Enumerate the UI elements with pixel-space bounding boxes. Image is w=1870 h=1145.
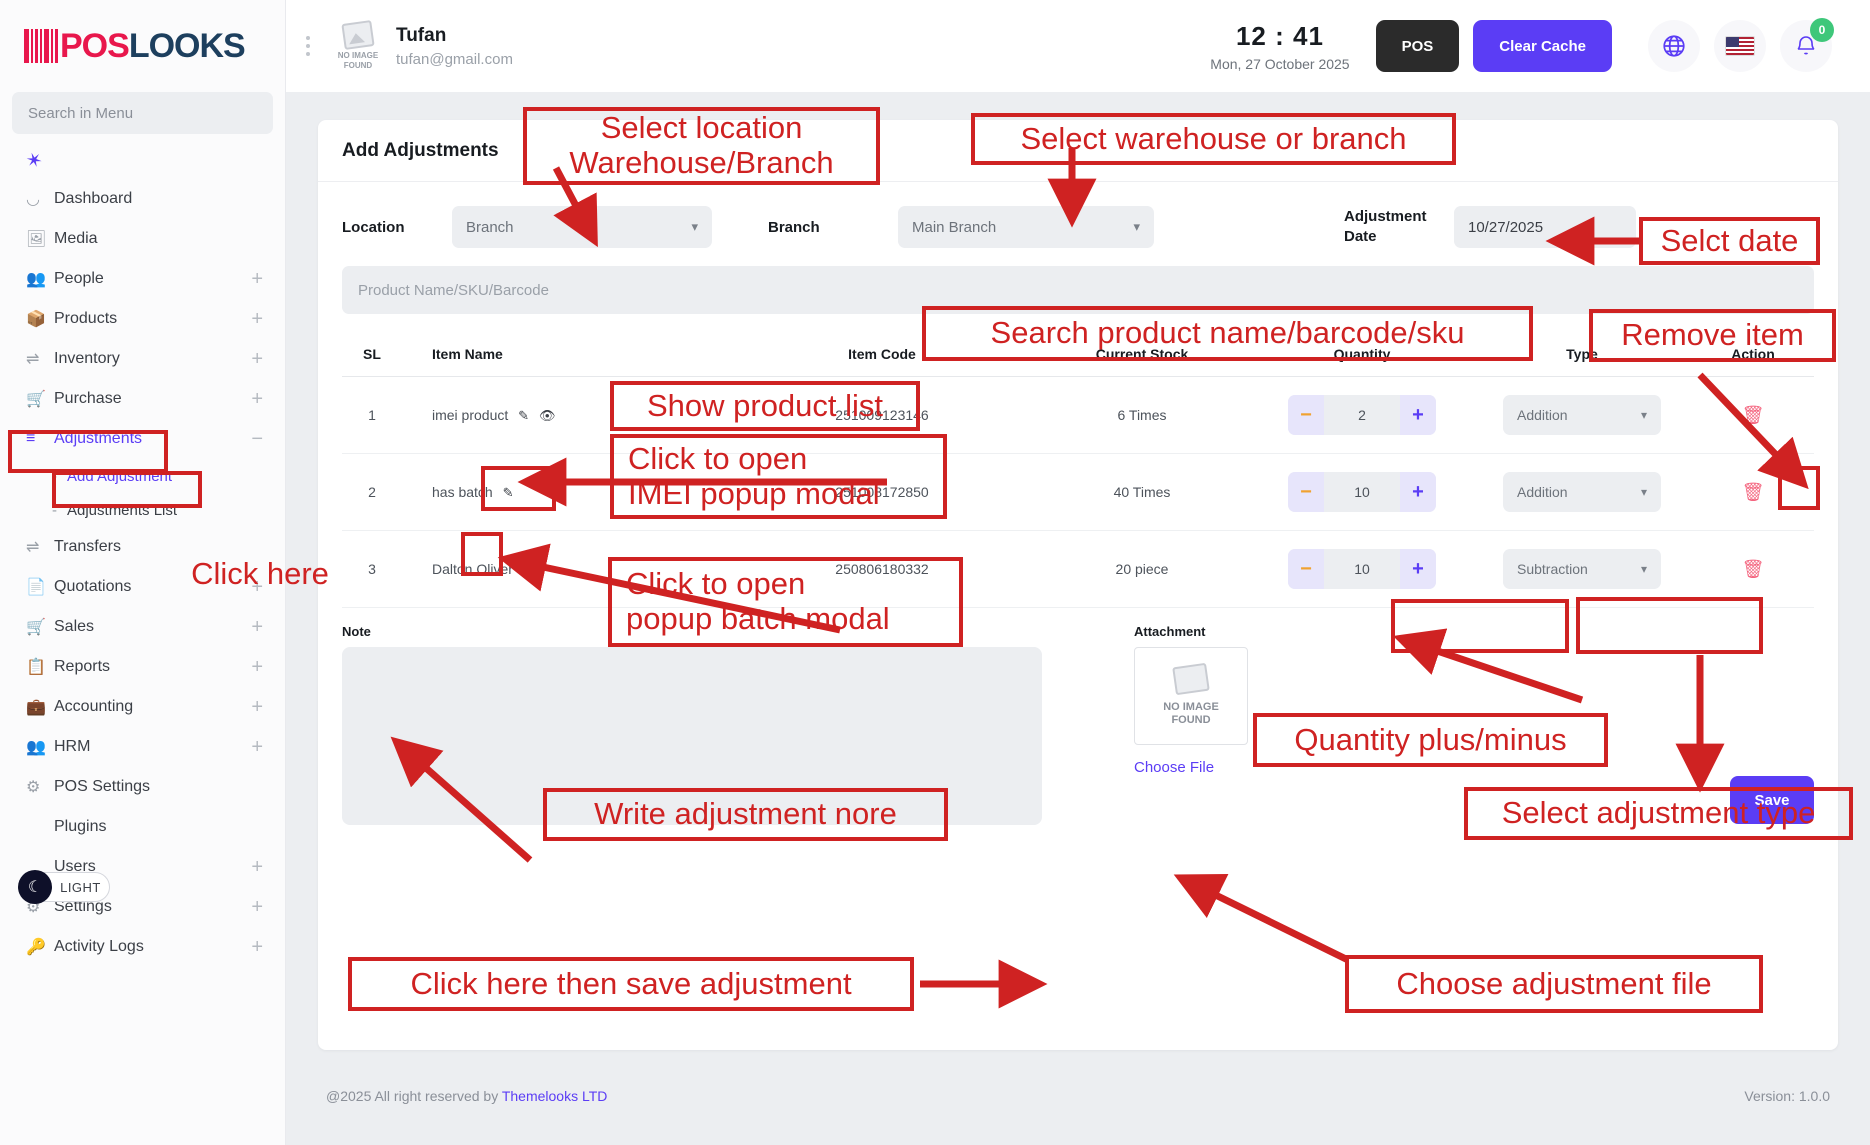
annotation-save-adjustment: Click here then save adjustment xyxy=(348,957,914,1011)
edit-icon[interactable]: ✎ xyxy=(518,408,529,423)
sidebar-item-label: HRM xyxy=(54,738,251,756)
gears-icon: ⚙ xyxy=(26,777,54,797)
annotation-click-here: Click here xyxy=(160,552,360,596)
globe-icon xyxy=(1661,33,1687,59)
cell-type: Addition ▾ xyxy=(1472,454,1692,531)
app-logo[interactable]: POSLOOKS xyxy=(0,0,285,92)
cell-type: Subtraction ▾ xyxy=(1472,531,1692,608)
cart-icon: 🛒 xyxy=(26,389,54,409)
branch-select[interactable]: Main Branch ▾ xyxy=(898,206,1154,248)
sidebar-item-media[interactable]: 🖼 Media xyxy=(0,219,285,259)
delete-row-button[interactable]: 🗑 xyxy=(1742,482,1765,502)
adjustment-type-select[interactable]: Addition ▾ xyxy=(1503,395,1661,435)
cell-type: Addition ▾ xyxy=(1472,377,1692,454)
no-image-icon xyxy=(341,20,374,50)
delete-row-button[interactable]: 🗑 xyxy=(1742,405,1765,425)
pin-row: ✶ xyxy=(0,134,285,179)
user-name: Tufan xyxy=(396,25,513,47)
attachment-caption: NO IMAGE FOUND xyxy=(1163,701,1219,727)
header-actions: 12 : 41 Mon, 27 October 2025 POS Clear C… xyxy=(1210,20,1870,72)
collapse-icon[interactable]: − xyxy=(251,429,263,449)
clear-cache-button[interactable]: Clear Cache xyxy=(1473,20,1612,72)
chevron-down-icon: ▾ xyxy=(1133,219,1140,235)
expand-icon[interactable]: + xyxy=(251,897,263,917)
items-table: SL Item Name Item Code Current Stock Qua… xyxy=(342,336,1814,608)
sidebar-item-label: Purchase xyxy=(54,390,251,408)
annotation-select-location: Select location Warehouse/Branch xyxy=(523,107,880,185)
expand-icon[interactable]: + xyxy=(251,857,263,877)
sidebar-item-pos-settings[interactable]: ⚙ POS Settings xyxy=(0,767,285,807)
quantity-stepper[interactable]: − 10 + xyxy=(1288,549,1436,589)
cell-action: 🗑 xyxy=(1692,377,1814,454)
adjustment-type-select[interactable]: Subtraction ▾ xyxy=(1503,549,1661,589)
sidebar-item-label: Sales xyxy=(54,618,251,636)
branch-label: Branch xyxy=(768,219,898,236)
sidebar-item-activity-logs[interactable]: 🔑 Activity Logs + xyxy=(0,927,285,967)
avatar-caption-line2: FOUND xyxy=(338,61,378,70)
cell-current-stock: 40 Times xyxy=(1032,454,1252,531)
expand-icon[interactable]: + xyxy=(251,737,263,757)
clock-date: Mon, 27 October 2025 xyxy=(1210,56,1349,72)
annotation-imei-modal: Click to open IMEI popup modal xyxy=(610,434,947,519)
quantity-minus-button[interactable]: − xyxy=(1288,549,1324,589)
sidebar-item-products[interactable]: 📦 Products + xyxy=(0,299,285,339)
theme-toggle-label: LIGHT xyxy=(52,880,109,895)
sidebar-item-people[interactable]: 👥 People + xyxy=(0,259,285,299)
company-link[interactable]: Themelooks LTD xyxy=(502,1088,608,1104)
sidebar-item-label: Media xyxy=(54,230,285,248)
table-row: 3 Dalton Oliver 250806180332 20 piece − … xyxy=(342,531,1814,608)
sidebar-item-label: Inventory xyxy=(54,350,251,368)
expand-icon[interactable]: + xyxy=(251,269,263,289)
highlight-type-select xyxy=(1576,597,1763,654)
language-button[interactable] xyxy=(1648,20,1700,72)
theme-toggle[interactable]: ☾ LIGHT xyxy=(22,872,110,902)
annotation-quantity-plus-minus: Quantity plus/minus xyxy=(1253,713,1608,767)
cart-icon: 🛒 xyxy=(26,617,54,637)
highlight-quantity-stepper xyxy=(1391,599,1569,653)
highlight-batch-icon xyxy=(461,532,503,576)
sidebar-item-label: People xyxy=(54,270,251,288)
cell-sl: 1 xyxy=(342,377,402,454)
us-flag-icon xyxy=(1725,36,1755,56)
user-email: tufan@gmail.com xyxy=(396,51,513,68)
annotation-remove-item: Remove item xyxy=(1589,309,1836,362)
highlight-delete-button xyxy=(1778,466,1820,510)
table-row: 2 has batch ✎ 251008172850 40 Times − 10 xyxy=(342,454,1814,531)
th-item-name: Item Name xyxy=(402,336,732,377)
quantity-stepper[interactable]: − 10 + xyxy=(1288,472,1436,512)
th-sl: SL xyxy=(342,336,402,377)
branch-select-value: Main Branch xyxy=(912,219,996,236)
transfers-icon: ⇌ xyxy=(26,537,54,557)
expand-icon[interactable]: + xyxy=(251,389,263,409)
document-icon: 📄 xyxy=(26,577,54,597)
location-select-value: Branch xyxy=(466,219,514,236)
adjustment-type-value: Subtraction xyxy=(1517,561,1588,577)
quantity-plus-button[interactable]: + xyxy=(1400,395,1436,435)
expand-icon[interactable]: + xyxy=(251,349,263,369)
expand-icon[interactable]: + xyxy=(251,617,263,637)
media-icon: 🖼 xyxy=(26,229,54,249)
attachment-label: Attachment xyxy=(1134,624,1248,639)
footer: @2025 All right reserved by Themelooks L… xyxy=(286,1060,1870,1145)
location-select[interactable]: Branch ▾ xyxy=(452,206,712,248)
adjustment-date-input[interactable]: 10/27/2025 xyxy=(1454,206,1636,248)
hrm-icon: 👥 xyxy=(26,737,54,757)
expand-icon[interactable]: + xyxy=(251,309,263,329)
quantity-value[interactable]: 10 xyxy=(1324,561,1400,577)
choose-file-link[interactable]: Choose File xyxy=(1134,759,1248,776)
chevron-down-icon: ▾ xyxy=(691,219,698,235)
form-row: Location Branch ▾ Branch Main Branch ▾ A… xyxy=(318,182,1838,266)
sidebar-item-label: Activity Logs xyxy=(54,938,251,956)
page-title: Add Adjustments xyxy=(342,140,499,162)
adjustment-date-label: Adjustment Date xyxy=(1344,207,1454,248)
cell-current-stock: 6 Times xyxy=(1032,377,1252,454)
sidebar-item-accounting[interactable]: 💼 Accounting + xyxy=(0,687,285,727)
adjustment-type-select[interactable]: Addition ▾ xyxy=(1503,472,1661,512)
highlight-imei-icons xyxy=(481,466,556,511)
quantity-stepper[interactable]: − 2 + xyxy=(1288,395,1436,435)
cell-quantity: − 10 + xyxy=(1252,531,1472,608)
search-input[interactable] xyxy=(28,105,257,122)
moon-icon: ☾ xyxy=(18,870,52,904)
barcode-icon xyxy=(24,29,58,63)
annotation-choose-file: Choose adjustment file xyxy=(1345,955,1763,1013)
no-image-icon xyxy=(1172,663,1210,695)
clock-time: 12 : 41 xyxy=(1210,21,1349,52)
briefcase-icon: 💼 xyxy=(26,697,54,717)
avatar[interactable]: NO IMAGE FOUND xyxy=(330,18,386,74)
quantity-plus-button[interactable]: + xyxy=(1400,549,1436,589)
adjustment-date-value: 10/27/2025 xyxy=(1468,219,1543,236)
copyright-text: @2025 All right reserved by xyxy=(326,1088,502,1104)
quantity-plus-button[interactable]: + xyxy=(1400,472,1436,512)
location-label: Location xyxy=(342,219,452,236)
clock: 12 : 41 Mon, 27 October 2025 xyxy=(1210,21,1349,72)
cell-current-stock: 20 piece xyxy=(1032,531,1252,608)
sidebar-item-dashboard[interactable]: ◡ Dashboard xyxy=(0,179,285,219)
top-header: NO IMAGE FOUND Tufan tufan@gmail.com 12 … xyxy=(286,0,1870,92)
pin-icon[interactable]: ✶ xyxy=(22,146,46,175)
highlight-adjustments-nav xyxy=(8,430,168,473)
people-icon: 👥 xyxy=(26,269,54,289)
annotation-select-date: Selct date xyxy=(1639,217,1820,265)
delete-row-button[interactable]: 🗑 xyxy=(1742,559,1765,579)
expand-icon[interactable]: + xyxy=(251,657,263,677)
sidebar-item-label: Accounting xyxy=(54,698,251,716)
sidebar-item-purchase[interactable]: 🛒 Purchase + xyxy=(0,379,285,419)
expand-icon[interactable]: + xyxy=(251,697,263,717)
sidebar-search[interactable] xyxy=(12,92,273,134)
version-text: Version: 1.0.0 xyxy=(1744,1088,1830,1104)
sidebar-item-label: POS Settings xyxy=(54,778,285,796)
key-icon: 🔑 xyxy=(26,937,54,957)
annotation-write-note: Write adjustment nore xyxy=(543,788,948,841)
quantity-value[interactable]: 2 xyxy=(1324,407,1400,423)
sidebar-item-label: Reports xyxy=(54,658,251,676)
table-row: 1 imei product ✎ 👁 251009123146 6 Times … xyxy=(342,377,1814,454)
sidebar-item-label: Products xyxy=(54,310,251,328)
adjustment-type-value: Addition xyxy=(1517,484,1568,500)
quantity-minus-button[interactable]: − xyxy=(1288,395,1324,435)
user-block[interactable]: Tufan tufan@gmail.com xyxy=(396,25,513,68)
table-body: 1 imei product ✎ 👁 251009123146 6 Times … xyxy=(342,377,1814,608)
annotation-select-warehouse: Select warehouse or branch xyxy=(971,113,1456,165)
gauge-icon: ◡ xyxy=(26,189,54,209)
annotation-search-product: Search product name/barcode/sku xyxy=(922,306,1533,361)
eye-icon[interactable]: 👁 xyxy=(539,408,556,423)
quantity-value[interactable]: 10 xyxy=(1324,484,1400,500)
sidebar-item-reports[interactable]: 📋 Reports + xyxy=(0,647,285,687)
chevron-down-icon: ▾ xyxy=(1641,562,1647,576)
annotation-select-adjustment-type: Select adjustment type xyxy=(1464,787,1853,840)
avatar-caption-line1: NO IMAGE xyxy=(338,51,378,60)
adjustment-card: Add Adjustments Location Branch ▾ Branch… xyxy=(318,120,1838,1050)
sidebar-item-sales[interactable]: 🛒 Sales + xyxy=(0,607,285,647)
annotation-batch-modal: Click to open popup batch modal xyxy=(608,557,963,647)
cell-sl: 2 xyxy=(342,454,402,531)
products-icon: 📦 xyxy=(26,309,54,329)
cell-quantity: − 2 + xyxy=(1252,377,1472,454)
sidebar-item-plugins[interactable]: Plugins xyxy=(0,807,285,847)
quantity-minus-button[interactable]: − xyxy=(1288,472,1324,512)
sidebar-item-inventory[interactable]: ⇌ Inventory + xyxy=(0,339,285,379)
chevron-down-icon: ▾ xyxy=(1641,408,1647,422)
expand-icon[interactable]: + xyxy=(251,937,263,957)
cell-quantity: − 10 + xyxy=(1252,454,1472,531)
annotation-show-product-list: Show product list xyxy=(610,381,920,431)
notifications-button[interactable]: 0 xyxy=(1780,20,1832,72)
highlight-add-adjustment-nav xyxy=(52,471,202,508)
attachment-block: Attachment NO IMAGE FOUND Choose File xyxy=(1134,624,1248,830)
logo-text-looks: LOOKS xyxy=(129,29,245,63)
item-name-text: imei product xyxy=(432,407,508,423)
chevron-down-icon: ▾ xyxy=(1641,485,1647,499)
adjustment-type-value: Addition xyxy=(1517,407,1568,423)
attachment-preview[interactable]: NO IMAGE FOUND xyxy=(1134,647,1248,745)
inventory-icon: ⇌ xyxy=(26,349,54,369)
country-selector[interactable] xyxy=(1714,20,1766,72)
logo-text-pos: POS xyxy=(60,29,129,63)
report-icon: 📋 xyxy=(26,657,54,677)
cell-action: 🗑 xyxy=(1692,531,1814,608)
notification-badge: 0 xyxy=(1810,18,1834,42)
menu-toggle-icon[interactable] xyxy=(286,36,330,56)
sidebar-item-label: Dashboard xyxy=(54,190,285,208)
sidebar-item-hrm[interactable]: 👥 HRM + xyxy=(0,727,285,767)
pos-button[interactable]: POS xyxy=(1376,20,1460,72)
sidebar-item-label: Plugins xyxy=(54,818,285,836)
copyright: @2025 All right reserved by Themelooks L… xyxy=(326,1088,607,1104)
